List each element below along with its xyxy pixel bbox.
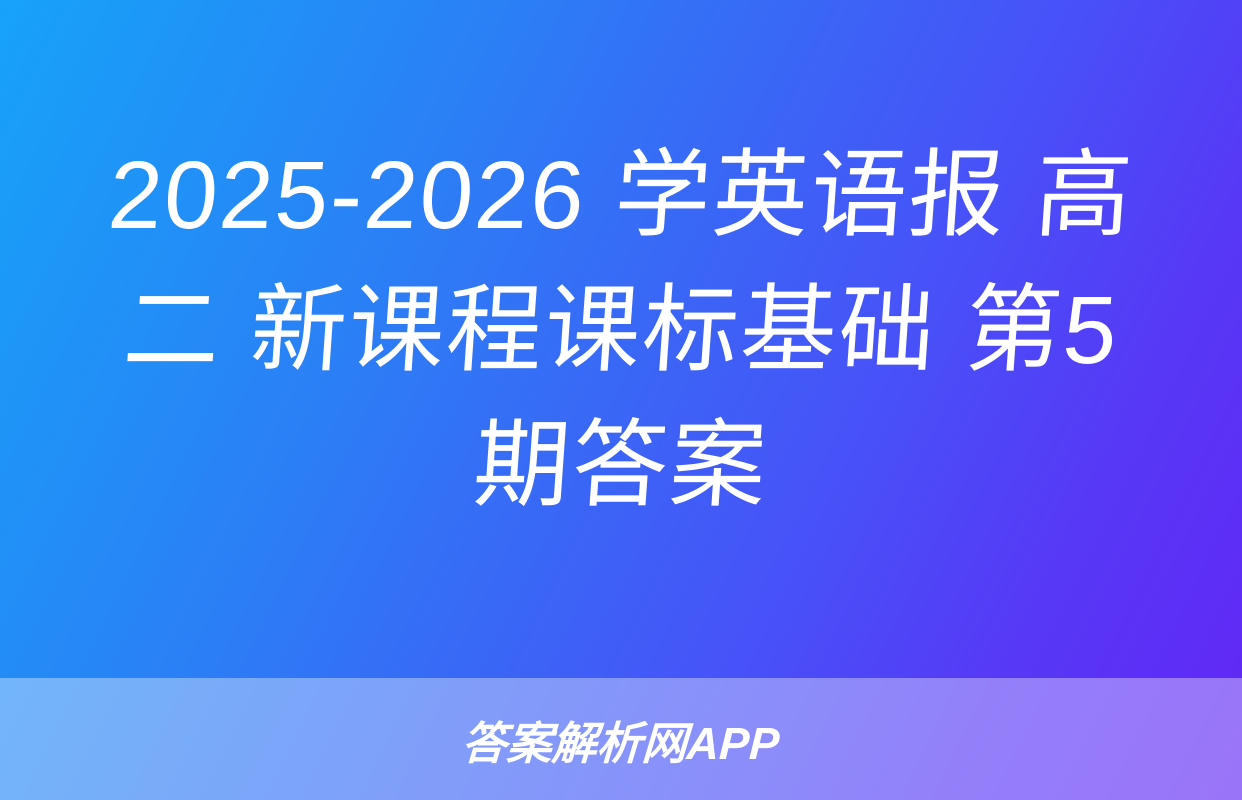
footer-brand-band: 答案解析网APP: [0, 678, 1242, 800]
footer-brand-label: 答案解析网APP: [461, 707, 782, 772]
title-block: 2025-2026 学英语报 高 二 新课程课标基础 第5 期答案: [0, 0, 1242, 678]
title-line-3: 期答案: [469, 398, 772, 533]
answer-title-card: 2025-2026 学英语报 高 二 新课程课标基础 第5 期答案 答案解析网A…: [0, 0, 1242, 800]
title-line-2: 二 新课程课标基础 第5: [119, 263, 1123, 398]
title-line-1: 2025-2026 学英语报 高: [104, 128, 1138, 263]
